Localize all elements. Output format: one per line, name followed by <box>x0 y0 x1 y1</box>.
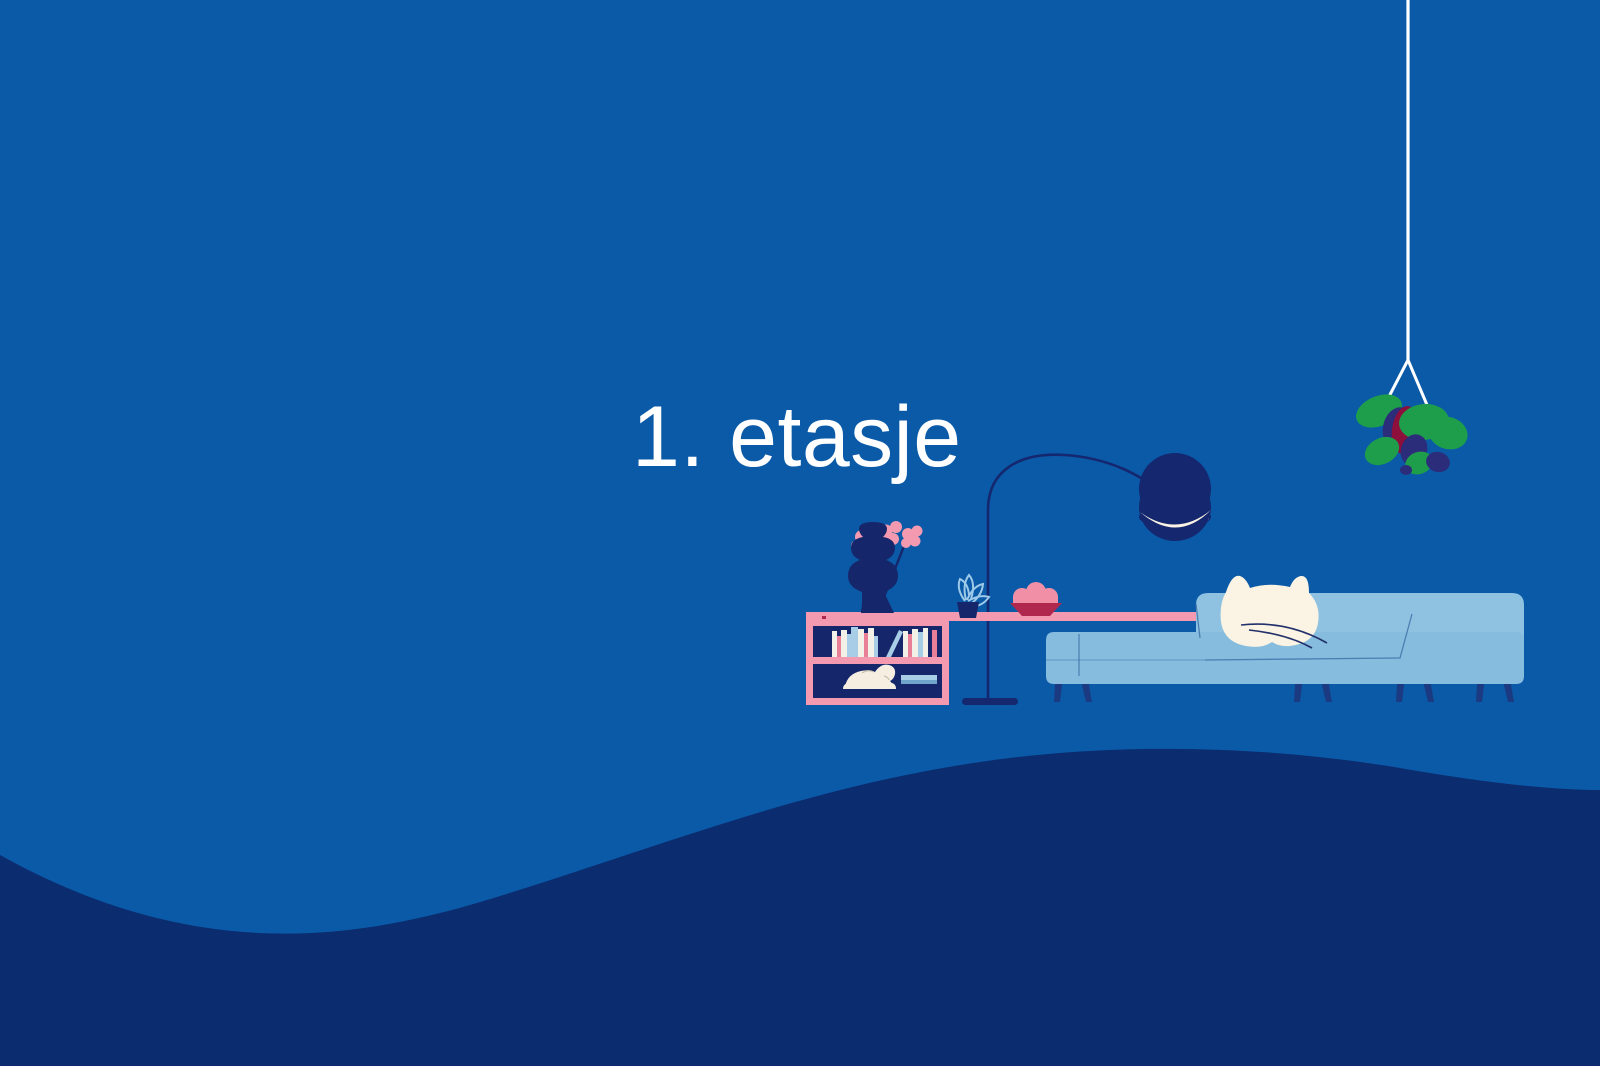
book <box>841 630 847 657</box>
shelf-left-side <box>806 619 813 705</box>
bookshelf-icon <box>806 616 949 705</box>
potted-plant-pot <box>957 602 979 618</box>
book <box>832 631 837 657</box>
book <box>918 632 923 657</box>
book <box>858 629 864 657</box>
stacked-book-2 <box>901 680 937 684</box>
shelf-right-side <box>942 619 949 705</box>
book <box>903 631 908 657</box>
book <box>912 629 918 657</box>
book <box>868 628 874 657</box>
stacked-book-1 <box>901 675 937 680</box>
book <box>880 630 886 657</box>
book <box>923 628 928 657</box>
shelf-top-rail <box>806 619 949 626</box>
book <box>847 634 851 657</box>
page-title: 1. etasje <box>632 392 962 482</box>
book <box>928 634 932 657</box>
book <box>908 634 912 657</box>
illustration-scene <box>0 0 1600 1066</box>
book <box>932 630 937 657</box>
book <box>874 636 878 657</box>
book <box>851 627 858 657</box>
shelf-middle-rail <box>806 657 949 664</box>
dog-base <box>843 683 896 689</box>
book <box>864 633 868 657</box>
book <box>837 636 841 657</box>
shelf-bottom-rail <box>806 698 949 705</box>
lamp-base <box>962 698 1018 705</box>
lamp-shade-body <box>1139 473 1211 541</box>
slide-canvas: 1. etasje <box>0 0 1600 1066</box>
cushion-body <box>1221 576 1319 647</box>
plant-leaf-10 <box>1400 465 1412 475</box>
